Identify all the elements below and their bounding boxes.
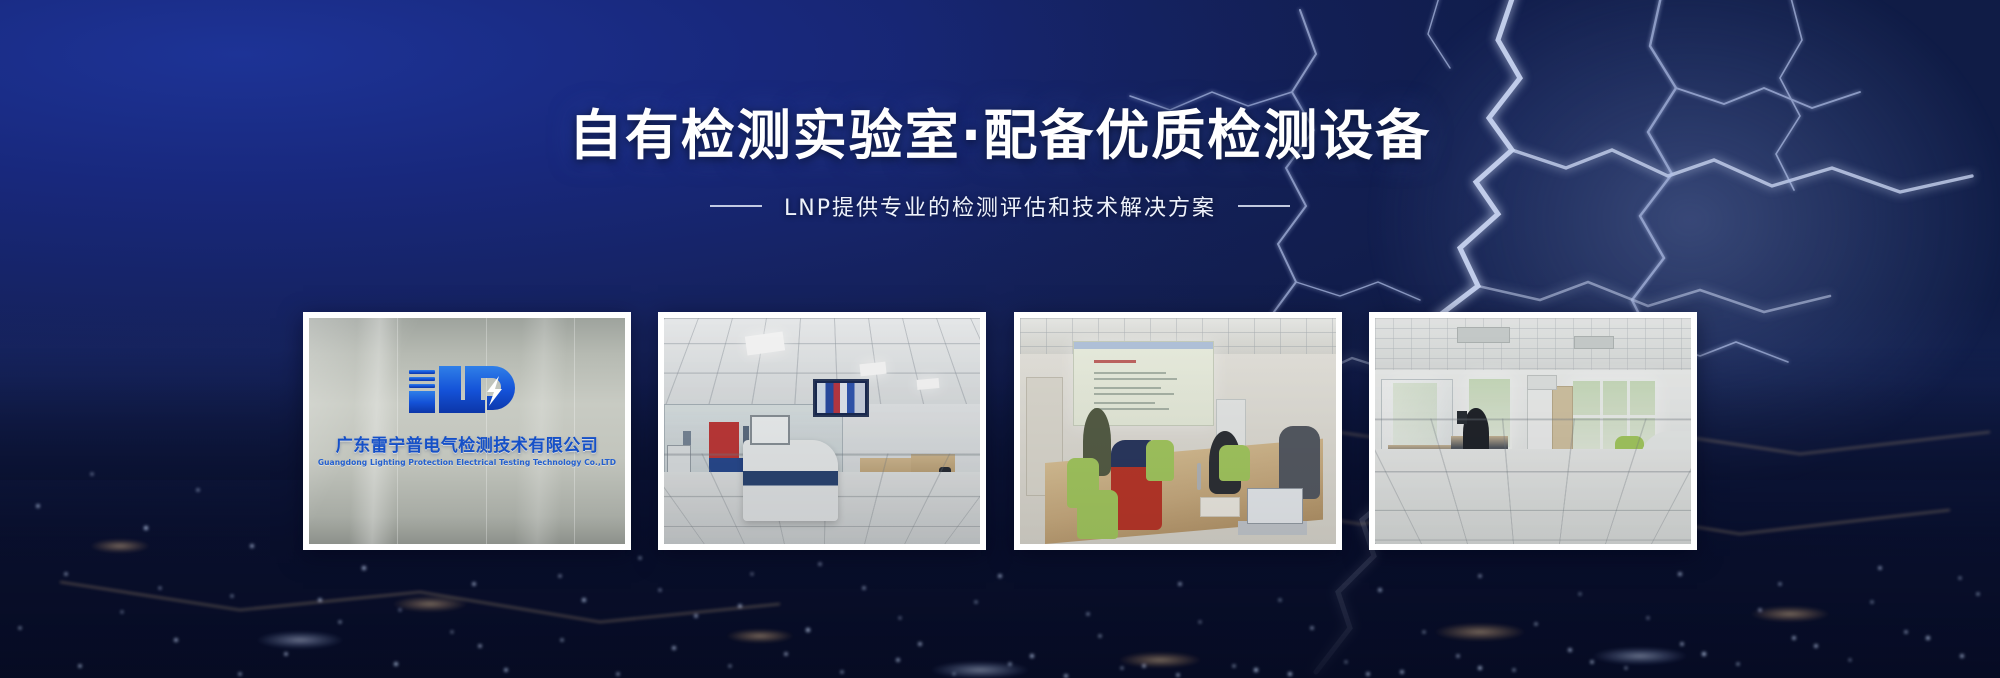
lnp-logo-icon <box>403 362 531 422</box>
company-sign-photo: 广东雷宁普电气检测技术有限公司 Guangdong Lighting Prote… <box>309 318 625 544</box>
rule-left-decor <box>710 205 762 207</box>
page-subtitle: LNP提供专业的检测评估和技术解决方案 <box>784 190 1216 222</box>
gallery-item-office[interactable] <box>1369 312 1697 550</box>
subtitle-row: LNP提供专业的检测评估和技术解决方案 <box>0 190 2000 222</box>
photo-gallery: 广东雷宁普电气检测技术有限公司 Guangdong Lighting Prote… <box>303 312 1697 550</box>
rule-right-decor <box>1238 205 1290 207</box>
hero-banner: 自有检测实验室·配备优质检测设备 LNP提供专业的检测评估和技术解决方案 <box>0 0 2000 678</box>
sign-company-name-cn: 广东雷宁普电气检测技术有限公司 <box>309 431 625 456</box>
headline-block: 自有检测实验室·配备优质检测设备 LNP提供专业的检测评估和技术解决方案 <box>0 104 2000 222</box>
office-area-photo <box>1375 318 1691 544</box>
sign-company-name-en: Guangdong Lighting Protection Electrical… <box>309 458 625 467</box>
sign-content: 广东雷宁普电气检测技术有限公司 Guangdong Lighting Prote… <box>309 362 625 467</box>
page-title: 自有检测实验室·配备优质检测设备 <box>0 104 2000 168</box>
gallery-item-laboratory[interactable] <box>658 312 986 550</box>
meeting-room-photo <box>1020 318 1336 544</box>
testing-laboratory-photo <box>664 318 980 544</box>
gallery-item-meeting-room[interactable] <box>1014 312 1342 550</box>
gallery-item-company-sign[interactable]: 广东雷宁普电气检测技术有限公司 Guangdong Lighting Prote… <box>303 312 631 550</box>
